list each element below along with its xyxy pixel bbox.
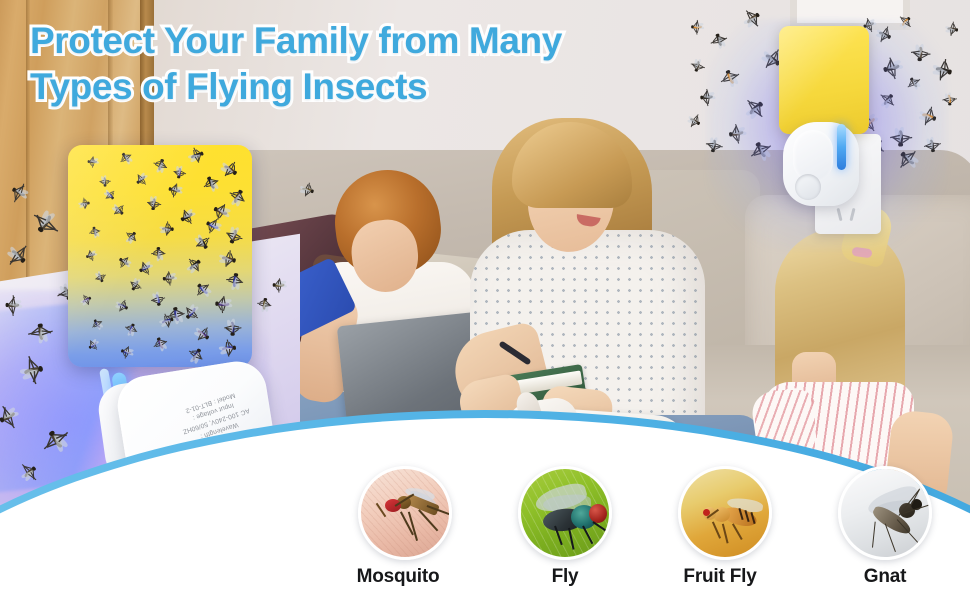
insect-sprite [169,306,185,327]
insect-sprite [185,257,203,275]
insect-sprite [218,159,240,179]
insect-sprite [195,281,213,299]
used-glue-board-with-insects [68,145,252,367]
product-marketing-image: FC RoHS 395nm UVA light Wavelength : AC … [0,0,970,600]
gnat-photo [838,466,932,560]
insect-sprite [105,192,115,202]
wall-mounted-device [765,26,897,206]
insect-sprite [138,261,153,274]
insect-sprite [118,255,130,266]
insect-sprite [152,292,163,307]
insect-sprite [83,296,93,305]
insect-sprite [116,302,128,312]
mosquito-blood-abdomen [385,499,401,512]
insect-sprite [212,204,234,222]
insect-sprite [193,233,210,251]
insect-sprite [162,272,176,282]
headline-line-1: Protect Your Family from Many [30,18,670,64]
badge-label: Fly [518,566,612,588]
insect-sprite [93,318,102,328]
insect-sprite [183,303,200,321]
insect-sprite [92,226,99,235]
insect-sprite [88,158,96,163]
insect-sprite [128,323,137,335]
mosquito-photo [358,466,452,560]
insect-sprite [215,298,234,310]
insect-sprite [155,336,168,351]
insect-sprite [205,218,223,233]
insect-sprite [216,251,237,266]
insect-sprite [81,201,90,208]
insect-sprite [228,272,242,292]
insect-badge-fly: Fly [518,466,612,588]
insect-sprite [204,175,220,193]
headline-line-2: Types of Flying Insects [30,64,670,110]
insect-sprite [96,274,104,284]
insect-sprite [101,178,107,187]
insect-sprite [112,205,124,217]
insect-sprite [226,317,239,336]
insect-sprite [227,187,246,209]
device-power-button[interactable] [795,174,821,200]
insect-sprite [160,316,175,328]
insect-sprite [187,149,205,164]
insect-sprite [193,326,211,343]
insect-sprite [85,251,95,259]
insect-sprite [168,184,182,194]
insect-sprite [156,158,167,173]
badge-label: Gnat [838,566,932,588]
insect-sprite [148,197,157,211]
insect-sprite [179,208,197,224]
insect-sprite [121,347,133,356]
insect-sprite [127,231,139,243]
insect-sprite [217,341,237,355]
badge-label: Fruit Fly [668,566,772,588]
fly-photo [518,466,612,560]
fruit-fly-photo [678,466,772,560]
insect-sprite [175,167,183,178]
insect-sprite [155,247,164,260]
insect-sprite [121,151,133,163]
insect-sprite [161,225,174,233]
insect-badge-gnat: Gnat [838,466,932,588]
insect-sprite [188,347,204,365]
clean-glue-board [779,26,869,134]
uv-led-strip [837,124,846,170]
insect-sprite [87,340,97,349]
insect-badge-row: Mosquito Fly [0,466,970,600]
headline: Protect Your Family from Many Types of F… [30,18,670,110]
insect-sprite [226,224,243,245]
insect-sprite [134,173,146,185]
insect-sprite [129,279,140,291]
badge-label: Mosquito [344,566,452,588]
fly-compound-eye [589,504,607,523]
insect-badge-fruit-fly: Fruit Fly [678,466,772,588]
insect-badge-mosquito: Mosquito [358,466,452,588]
